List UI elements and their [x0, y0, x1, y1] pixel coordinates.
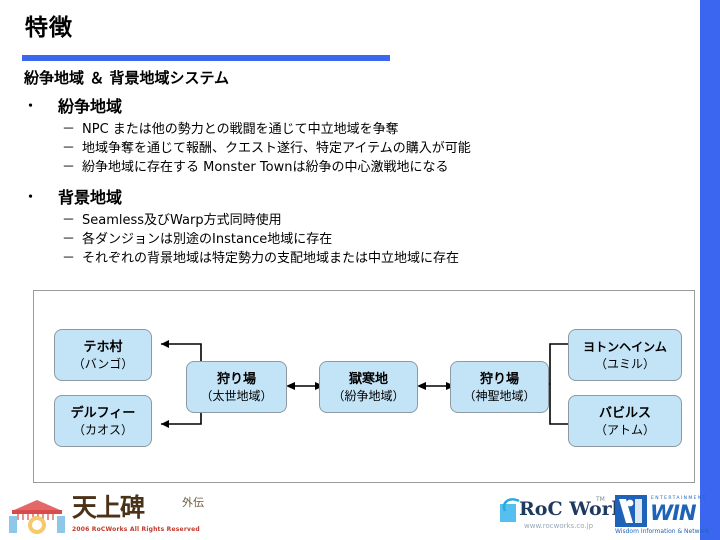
copyright-text: 2006 RoCWorks All Rights Reserved	[72, 526, 200, 533]
dash-marker-icon: －	[62, 158, 82, 177]
game-title-logotype: 天上碑	[72, 492, 144, 524]
pagoda-icon	[6, 494, 68, 534]
region-flow-diagram: テホ村 （バンゴ） デルフィー （カオス） 狩り場 （太世地域） 獄寒地 （紛争…	[33, 290, 695, 483]
section-conflict-area: ・ 紛争地域 － NPC または他の勢力との戦闘を通じて中立地域を争奪 － 地域…	[24, 96, 684, 177]
slide-canvas: 特徴 紛争地域 ＆ 背景地域システム ・ 紛争地域 － NPC または他の勢力と…	[0, 0, 720, 540]
node-subtitle: （神聖地域）	[463, 388, 535, 404]
node-subtitle: （バンゴ）	[73, 356, 134, 372]
node-subtitle: （紛争地域）	[332, 388, 404, 404]
list-item-label: 紛争地域に存在する Monster Townは紛争の中心激戦地になる	[82, 158, 448, 177]
bullet-marker-icon: ・	[24, 187, 58, 209]
dash-marker-icon: －	[62, 230, 82, 249]
win-tagline: Wisdom Information & Network	[615, 528, 709, 535]
body-content: 紛争地域 ＆ 背景地域システム ・ 紛争地域 － NPC または他の勢力との戦闘…	[24, 68, 684, 268]
rocworks-logo: RoC Works TM www.rocworks.co.jp	[497, 494, 607, 536]
game-subtitle-logotype: 外伝	[182, 496, 204, 509]
rocworks-url: www.rocworks.co.jp	[524, 522, 593, 530]
section-heading-label: 背景地域	[58, 187, 122, 209]
game-logo: 天上碑 外伝 2006 RoCWorks All Rights Reserved	[4, 492, 244, 538]
list-item: － Seamless及びWarp方式同時使用	[62, 211, 684, 230]
list-item-label: それぞれの背景地域は特定勢力の支配地域または中立地域に存在	[82, 249, 459, 268]
dash-marker-icon: －	[62, 120, 82, 139]
right-accent-bar	[700, 0, 720, 540]
section-background-area: ・ 背景地域 － Seamless及びWarp方式同時使用 － 各ダンジョンは別…	[24, 187, 684, 268]
diagram-node-jotunheim[interactable]: ヨトンヘインム （ユミル）	[568, 329, 682, 381]
list-item: － 各ダンジョンは別途のInstance地域に存在	[62, 230, 684, 249]
section-sub-list: － NPC または他の勢力との戦闘を通じて中立地域を争奪 － 地域争奪を通じて報…	[24, 120, 684, 177]
node-subtitle: （アトム）	[595, 422, 655, 438]
list-item: － それぞれの背景地域は特定勢力の支配地域または中立地域に存在	[62, 249, 684, 268]
win-mark-icon	[615, 495, 647, 527]
diagram-node-teho[interactable]: テホ村 （バンゴ）	[54, 329, 152, 381]
lead-subtitle: 紛争地域 ＆ 背景地域システム	[24, 68, 684, 88]
dash-marker-icon: －	[62, 139, 82, 158]
bullet-marker-icon: ・	[24, 96, 58, 118]
section-heading-label: 紛争地域	[58, 96, 122, 118]
diagram-node-delphi[interactable]: デルフィー （カオス）	[54, 395, 152, 447]
section-sub-list: － Seamless及びWarp方式同時使用 － 各ダンジョンは別途のInsta…	[24, 211, 684, 268]
win-logo: ENTERTAINMENT WIN Wisdom Information & N…	[615, 494, 701, 536]
node-title: テホ村	[83, 339, 122, 356]
node-title: デルフィー	[71, 405, 136, 422]
node-title: 狩り場	[480, 371, 519, 388]
node-title: 狩り場	[217, 371, 256, 388]
node-subtitle: （ユミル）	[595, 356, 655, 372]
dash-marker-icon: －	[62, 249, 82, 268]
dash-marker-icon: －	[62, 211, 82, 230]
node-title: ヨトンヘインム	[583, 339, 667, 356]
section-heading-row: ・ 紛争地域	[24, 96, 684, 118]
list-item: － NPC または他の勢力との戦闘を通じて中立地域を争奪	[62, 120, 684, 139]
win-wordmark: WIN	[650, 501, 696, 525]
list-item-label: NPC または他の勢力との戦闘を通じて中立地域を争奪	[82, 120, 399, 139]
list-item: － 紛争地域に存在する Monster Townは紛争の中心激戦地になる	[62, 158, 684, 177]
diagram-node-hunting-ground-taise[interactable]: 狩り場 （太世地域）	[186, 361, 287, 413]
node-subtitle: （カオス）	[73, 422, 133, 438]
list-item: － 地域争奪を通じて報酬、クエスト遂行、特定アイテムの購入が可能	[62, 139, 684, 158]
node-subtitle: （太世地域）	[200, 388, 272, 404]
node-title: 獄寒地	[349, 371, 388, 388]
diagram-node-gokkanchi[interactable]: 獄寒地 （紛争地域）	[319, 361, 418, 413]
diagram-node-hunting-ground-sacred[interactable]: 狩り場 （神聖地域）	[450, 361, 549, 413]
diagram-node-babilus[interactable]: バビルス （アトム）	[568, 395, 682, 447]
partner-logos: RoC Works TM www.rocworks.co.jp ENTERTAI…	[497, 494, 697, 538]
node-title: バビルス	[599, 405, 651, 422]
section-heading-row: ・ 背景地域	[24, 187, 684, 209]
page-title: 特徴	[25, 14, 73, 42]
list-item-label: 各ダンジョンは別途のInstance地域に存在	[82, 230, 332, 249]
list-item-label: Seamless及びWarp方式同時使用	[82, 211, 282, 230]
list-item-label: 地域争奪を通じて報酬、クエスト遂行、特定アイテムの購入が可能	[82, 139, 471, 158]
trademark-icon: TM	[596, 496, 605, 503]
title-underline-rule	[22, 55, 390, 61]
